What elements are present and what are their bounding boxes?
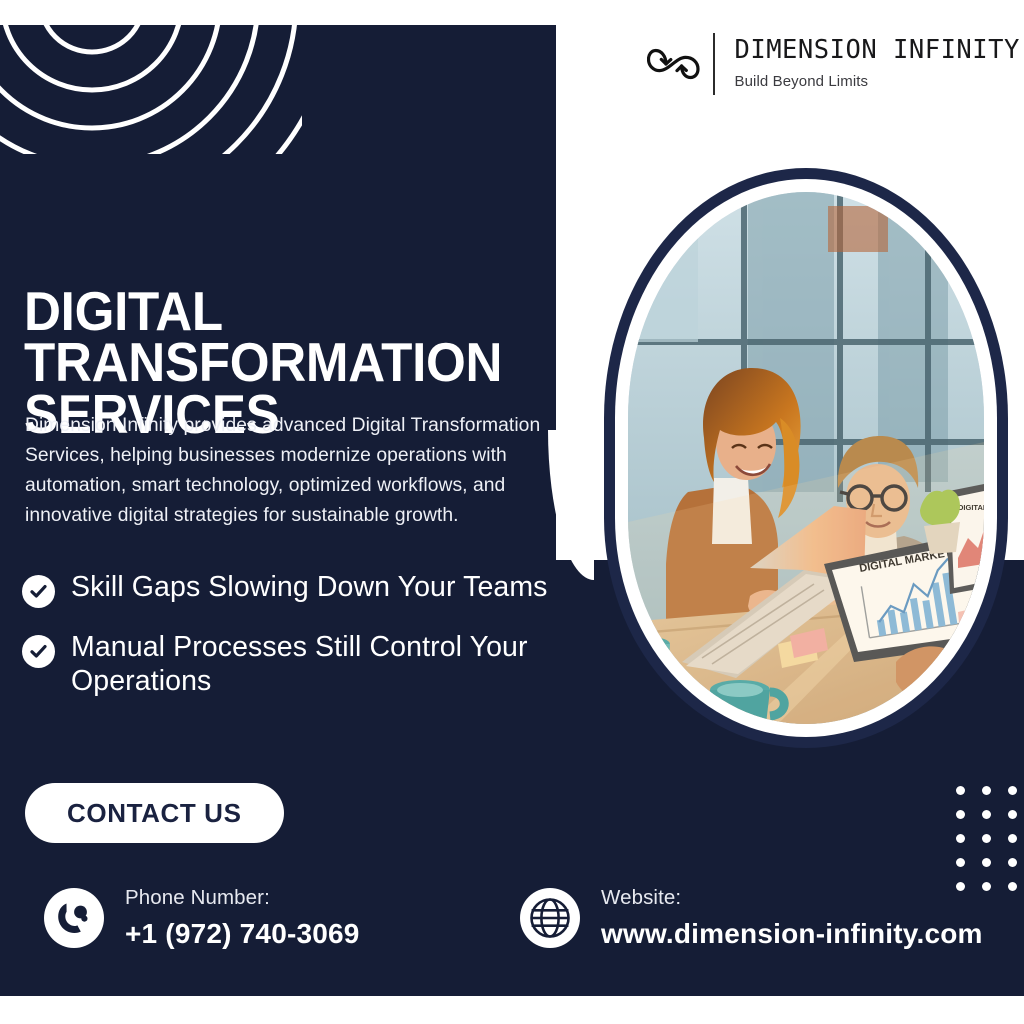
contact-phone[interactable]: Phone Number: +1 (972) 740-3069	[44, 886, 360, 950]
contact-website-value: www.dimension-infinity.com	[601, 917, 983, 951]
phone-icon	[44, 888, 104, 948]
contact-phone-value: +1 (972) 740-3069	[125, 917, 360, 951]
logo-divider	[713, 33, 715, 95]
concentric-arcs-decoration	[0, 0, 302, 154]
brand-tagline: Build Beyond Limits	[735, 73, 1020, 90]
globe-icon	[520, 888, 580, 948]
benefits-list: Skill Gaps Slowing Down Your Teams Manua…	[22, 570, 622, 720]
check-circle-icon	[22, 575, 55, 608]
hero-photo: DIGITAL MARKETING CAMPAIGN	[628, 192, 984, 724]
list-item-label: Manual Processes Still Control Your Oper…	[71, 630, 622, 698]
contact-us-button[interactable]: CONTACT US	[25, 783, 284, 843]
list-item: Manual Processes Still Control Your Oper…	[22, 630, 622, 698]
contact-website-label: Website:	[601, 886, 983, 911]
list-item: Skill Gaps Slowing Down Your Teams	[22, 570, 622, 608]
description-paragraph: Dimension Infinity provides advanced Dig…	[25, 411, 570, 531]
infinity-arrows-icon	[645, 42, 707, 86]
hero-photo-arch: DIGITAL MARKETING CAMPAIGN	[604, 168, 1008, 748]
list-item-label: Skill Gaps Slowing Down Your Teams	[71, 570, 548, 604]
check-circle-icon	[22, 635, 55, 668]
brand-logo[interactable]: DIMENSION INFINITY Build Beyond Limits	[645, 28, 1015, 100]
contact-phone-label: Phone Number:	[125, 886, 360, 911]
contact-website[interactable]: Website: www.dimension-infinity.com	[520, 886, 983, 950]
brand-name: DIMENSION INFINITY	[735, 38, 1020, 64]
dot-grid-decoration	[956, 786, 1017, 891]
poster-canvas: DIMENSION INFINITY Build Beyond Limits D…	[0, 0, 1024, 1024]
